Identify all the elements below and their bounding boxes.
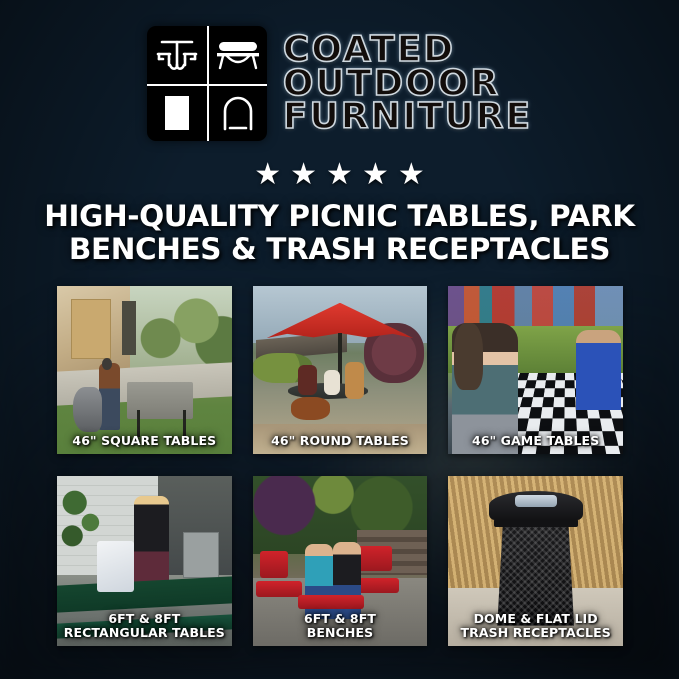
tile-round-tables[interactable]: 46" ROUND TABLES: [253, 286, 428, 454]
tile-game-tables[interactable]: 46" GAME TABLES: [448, 286, 623, 454]
tile-caption-line: 6FT & 8FT: [61, 612, 228, 626]
star-icon: ★: [362, 160, 389, 190]
product-photo-game-tables: [448, 286, 623, 454]
tile-caption-line: BENCHES: [257, 626, 424, 640]
tile-caption-line: 6FT & 8FT: [257, 612, 424, 626]
brand-logo: COATED OUTDOOR FURNITURE: [0, 26, 679, 141]
tile-caption: 46" GAME TABLES: [448, 434, 623, 448]
star-icon: ★: [398, 160, 425, 190]
product-photo-square-tables: [57, 286, 232, 454]
tile-caption-line: 46" ROUND TABLES: [257, 434, 424, 448]
tile-caption: DOME & FLAT LID TRASH RECEPTACLES: [448, 612, 623, 640]
headline-line-2: BENCHES & TRASH RECEPTACLES: [28, 233, 651, 266]
brand-wordmark: COATED OUTDOOR FURNITURE: [283, 33, 532, 133]
star-icon: ★: [254, 160, 281, 190]
brand-line-3: FURNITURE: [283, 100, 532, 133]
tile-caption: 46" SQUARE TABLES: [57, 434, 232, 448]
tile-trash-receptacles[interactable]: DOME & FLAT LID TRASH RECEPTACLES: [448, 476, 623, 646]
headline-line-1: HIGH-QUALITY PICNIC TABLES, PARK: [44, 199, 634, 233]
product-photo-round-tables: [253, 286, 428, 454]
tile-rectangular-tables[interactable]: 6FT & 8FT RECTANGULAR TABLES: [57, 476, 232, 646]
tile-square-tables[interactable]: 46" SQUARE TABLES: [57, 286, 232, 454]
tile-caption-line: DOME & FLAT LID: [452, 612, 619, 626]
tile-benches[interactable]: 6FT & 8FT BENCHES: [253, 476, 428, 646]
brand-line-1: COATED: [283, 33, 532, 66]
tile-caption-line: 46" GAME TABLES: [452, 434, 619, 448]
tile-caption-line: RECTANGULAR TABLES: [61, 626, 228, 640]
logo-icon-grid: [147, 26, 267, 141]
tile-caption: 6FT & 8FT BENCHES: [253, 612, 428, 640]
star-icon: ★: [290, 160, 317, 190]
product-tile-grid: 46" SQUARE TABLES: [57, 286, 623, 646]
advertisement-banner: COATED OUTDOOR FURNITURE ★ ★ ★ ★ ★ HIGH-…: [0, 0, 679, 679]
tile-caption-line: 46" SQUARE TABLES: [61, 434, 228, 448]
tile-caption-line: TRASH RECEPTACLES: [452, 626, 619, 640]
tile-caption: 6FT & 8FT RECTANGULAR TABLES: [57, 612, 232, 640]
dome-lid-trash-icon: [207, 84, 267, 142]
banner-content: COATED OUTDOOR FURNITURE ★ ★ ★ ★ ★ HIGH-…: [0, 0, 679, 679]
star-icon: ★: [326, 160, 353, 190]
tile-caption: 46" ROUND TABLES: [253, 434, 428, 448]
flat-lid-trash-icon: [147, 84, 207, 142]
headline: HIGH-QUALITY PICNIC TABLES, PARK BENCHES…: [28, 200, 651, 266]
park-bench-icon: [207, 26, 267, 84]
star-rating: ★ ★ ★ ★ ★: [0, 160, 679, 190]
picnic-table-icon: [147, 26, 207, 84]
